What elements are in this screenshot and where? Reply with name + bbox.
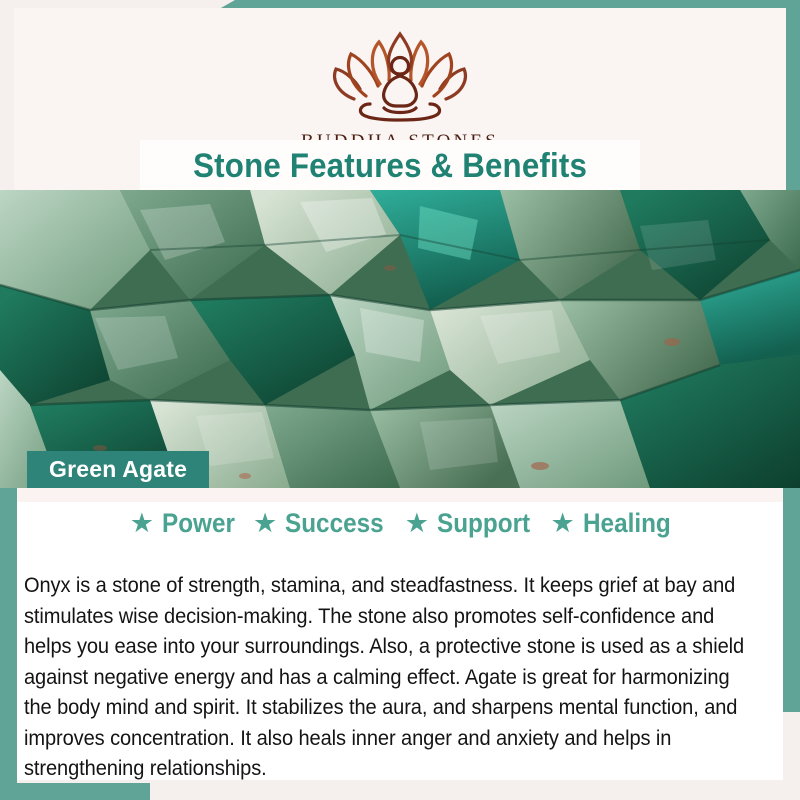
keyword-success: ★ Success	[243, 508, 395, 539]
panel-top-tint	[17, 488, 783, 502]
keyword-support: ★ Support	[395, 508, 541, 539]
stone-name-banner: Green Agate	[27, 451, 209, 488]
frame-accent-left	[0, 487, 17, 800]
content-panel: ★ Power ★ Success ★ Support ★ Healing On…	[17, 488, 783, 780]
green-agate-raw-stones-photo	[0, 190, 800, 488]
keyword-label: Success	[285, 508, 384, 539]
stone-name: Green Agate	[49, 456, 187, 483]
lotus-meditation-icon	[310, 26, 490, 122]
stone-description: Onyx is a stone of strength, stamina, an…	[24, 571, 746, 785]
brand-logo: BUDDHA STONES	[14, 26, 786, 153]
stone-info-card: BUDDHA STONES Stone Features & Benefits	[0, 0, 800, 800]
frame-accent-bottom-left	[0, 783, 150, 800]
keyword-list: ★ Power ★ Success ★ Support ★ Healing	[17, 508, 783, 539]
page-title: Stone Features & Benefits	[193, 147, 587, 186]
star-icon: ★	[130, 510, 154, 537]
star-icon: ★	[253, 510, 277, 537]
star-icon: ★	[405, 510, 429, 537]
keyword-label: Support	[437, 508, 530, 539]
keyword-healing: ★ Healing	[541, 508, 681, 539]
star-icon: ★	[551, 510, 575, 537]
title-banner: Stone Features & Benefits	[140, 140, 640, 192]
keyword-power: ★ Power	[120, 508, 243, 539]
keyword-label: Power	[162, 508, 235, 539]
keyword-label: Healing	[583, 508, 671, 539]
